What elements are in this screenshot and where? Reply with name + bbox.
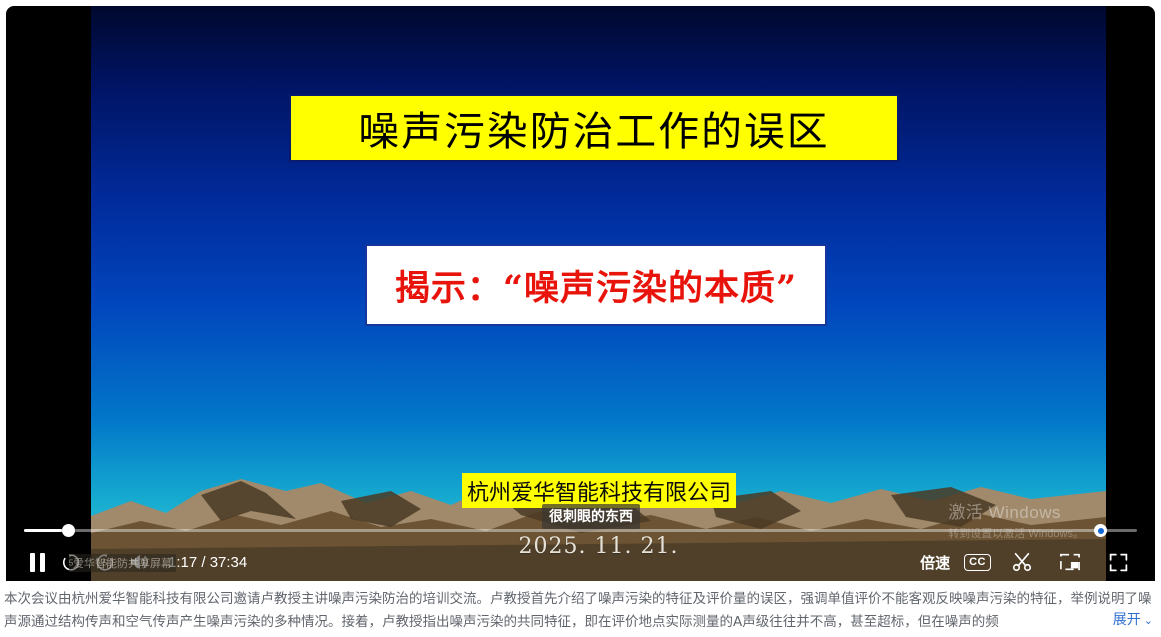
forward-5s-button[interactable]: 5 [88,545,122,579]
controls-row: 5 5 [6,543,1155,581]
slide-title-banner: 噪声污染防治工作的误区 [289,94,899,162]
volume-button[interactable] [122,545,156,579]
slide-title: 噪声污染防治工作的误区 [358,99,829,157]
expand-summary-button[interactable]: 展开 ⌄ [1099,609,1153,632]
slide-company-name: 杭州爱华智能科技有限公司 [467,475,731,507]
clip-button[interactable] [1005,545,1039,579]
time-display: 1:17 / 37:34 [168,554,247,571]
pause-button[interactable] [20,545,54,579]
picture-in-picture-button[interactable] [1053,545,1087,579]
player-controls[interactable]: 5 5 [6,509,1155,581]
slide-subtitle-box: 揭示：“噪声污染的本质” [365,244,827,326]
chevron-down-icon: ⌄ [1144,609,1153,632]
fullscreen-icon [1108,552,1129,573]
volume-on-icon [128,552,150,572]
captions-button[interactable]: CC [964,554,991,571]
rewind-5s-button[interactable]: 5 [54,545,88,579]
progress-bar[interactable] [6,523,1155,537]
controls-right-group: 倍速 CC [920,545,1155,579]
pause-icon [29,553,46,572]
controls-left-group: 5 5 [6,545,247,579]
playback-speed-button[interactable]: 倍速 [920,552,950,573]
progress-track[interactable] [24,529,1137,532]
replay-5-icon: 5 [60,551,82,573]
progress-knob[interactable] [62,524,75,537]
slide-subtitle: 揭示：“噪声污染的本质” [395,260,797,311]
slide-company-banner: 杭州爱华智能科技有限公司 [462,473,736,508]
video-player[interactable]: 噪声污染防治工作的误区 揭示：“噪声污染的本质” 杭州爱华智能科技有限公司 很刺… [6,6,1155,581]
chapter-marker-dot[interactable] [1094,524,1107,537]
picture-in-picture-icon [1059,552,1081,572]
fullscreen-button[interactable] [1101,545,1135,579]
video-summary-text: 本次会议由杭州爱华智能科技有限公司邀请卢教授主讲噪声污染防治的培训交流。卢教授首… [4,588,1155,634]
video-frame[interactable]: 噪声污染防治工作的误区 揭示：“噪声污染的本质” 杭州爱华智能科技有限公司 很刺… [91,6,1106,581]
video-summary-panel: 本次会议由杭州爱华智能科技有限公司邀请卢教授主讲噪声污染防治的培训交流。卢教授首… [0,584,1161,637]
svg-text:5: 5 [69,559,74,568]
forward-5-icon: 5 [94,551,116,573]
expand-summary-label: 展开 [1113,609,1141,632]
svg-text:5: 5 [103,559,108,568]
page-root: 噪声污染防治工作的误区 揭示：“噪声污染的本质” 杭州爱华智能科技有限公司 很刺… [0,0,1161,637]
scissors-icon [1011,551,1033,573]
